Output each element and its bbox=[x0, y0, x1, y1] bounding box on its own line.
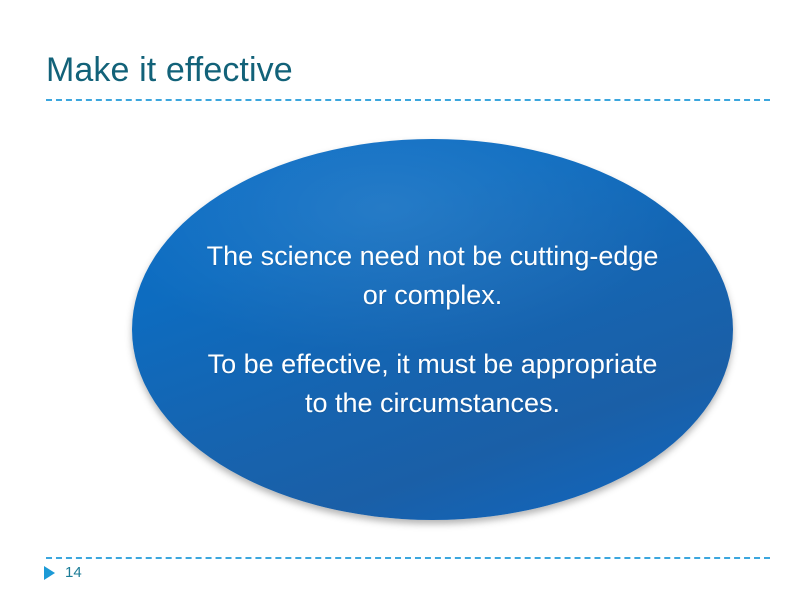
triangle-right-icon bbox=[44, 566, 55, 580]
slide-footer: 14 bbox=[44, 563, 82, 583]
page-title: Make it effective bbox=[46, 48, 770, 92]
callout-text: The science need not be cutting-edge or … bbox=[202, 237, 663, 423]
slide-title-block[interactable]: Make it effective bbox=[46, 48, 770, 96]
callout-paragraph-1: The science need not be cutting-edge or … bbox=[202, 237, 663, 315]
callout-paragraph-2: To be effective, it must be appropriate … bbox=[202, 345, 663, 423]
callout-ellipse[interactable]: The science need not be cutting-edge or … bbox=[132, 139, 733, 520]
title-divider bbox=[46, 99, 770, 101]
footer-divider bbox=[46, 557, 770, 559]
slide: Make it effective The science need not b… bbox=[0, 0, 800, 600]
page-number: 14 bbox=[65, 565, 82, 581]
